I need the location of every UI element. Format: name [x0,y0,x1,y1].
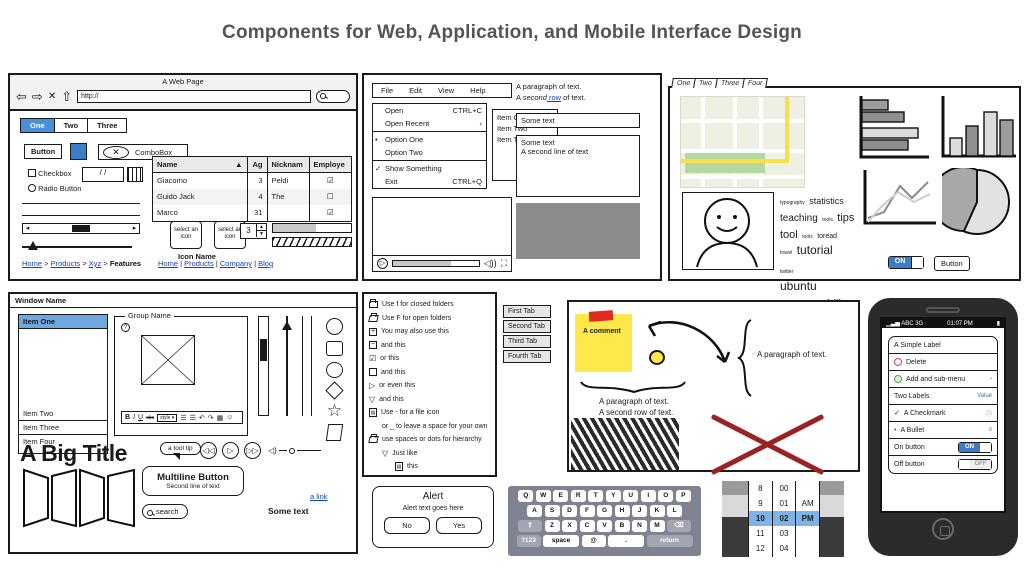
textarea[interactable]: Some text A second line of text [516,135,640,197]
key-s[interactable]: S [545,505,560,517]
divider-one [22,203,140,204]
open-folder-icon [368,436,378,443]
hour-cell[interactable]: 9 [749,496,772,511]
tab-one[interactable]: One [21,119,55,132]
icon-picker-button[interactable]: select an icon [170,221,202,249]
tag-cloud: typography statistics teaching tools tip… [780,192,860,312]
phone-home-button[interactable] [932,518,954,540]
hour-column[interactable]: 89101112 [749,481,773,557]
textarea-line2: A second line of text [521,147,635,156]
key-t[interactable]: T [588,490,603,502]
tree-item[interactable]: ▷or even this [369,379,490,393]
pie-chart [942,168,1012,236]
search-icon [320,93,326,99]
right-brace [737,318,755,398]
key-i[interactable]: I [641,490,656,502]
phone-row-add[interactable]: Add and sub-menu› [889,371,997,388]
radio-icon[interactable] [28,184,36,192]
at-key[interactable]: @ [582,535,606,547]
checkbox-row[interactable]: Checkbox [28,169,71,178]
map-widget[interactable] [680,96,805,188]
window-title: Window Name [10,294,356,308]
annotation-panel: A comment A paragraph of text. A paragra… [567,300,860,472]
previous-icon[interactable]: ◁◁ [200,442,217,459]
bullet-list-icon[interactable]: ☰ [180,414,186,422]
stepper-down-icon[interactable]: ▼ [256,230,266,237]
group-title: Group Name [125,311,174,320]
right-paragraph: A paragraph of text. [757,350,827,359]
key-q[interactable]: Q [518,490,533,502]
alert-message: Alert text goes here [373,505,493,512]
progress-bar [272,223,352,233]
phone-menu-list: A Simple Label Delete Add and sub-menu› … [888,336,998,474]
key-u[interactable]: U [623,490,638,502]
key-g[interactable]: G [597,505,612,517]
key-o[interactable]: O [658,490,673,502]
vtab-third[interactable]: Third Tab [503,335,551,348]
key-c[interactable]: C [580,520,595,532]
carousel-graphic [20,466,140,528]
cell-age: 31 [247,205,267,221]
radio-row[interactable]: Radio Button [28,184,81,193]
player-controls: ▷ ◁)) ⛶ [373,255,511,271]
big-title: A Big Title [20,440,127,467]
breadcrumb-home[interactable]: Home [22,259,42,268]
minute-cell[interactable]: 03 [773,526,796,541]
minute-cell[interactable]: 01 [773,496,796,511]
bottom-paragraph: A paragraph of text. A second row of tex… [599,396,673,418]
minute-cell[interactable]: 04 [773,541,796,556]
curved-arrow [637,312,747,374]
meridiem-cell[interactable]: AM [796,496,819,511]
redo-icon[interactable]: ↷ [208,414,214,422]
tree-item[interactable]: Use f for closed folders [369,298,490,312]
bottom-line1: A paragraph of text. [599,396,673,407]
undo-icon[interactable]: ↶ [199,414,205,422]
dropdown-menu: OpenCTRL+C Open Recent› •Option One Opti… [372,103,487,189]
alert-no-button[interactable]: No [384,517,430,534]
multiline-button[interactable]: Multiline Button Second line of text [142,466,244,496]
meridiem-cell[interactable] [796,481,819,496]
key-a[interactable]: A [527,505,542,517]
cell-employee-checked[interactable]: ☑ [309,173,351,189]
stop-x-icon[interactable]: ✕ [48,91,56,102]
ellipse-shape[interactable] [326,362,343,378]
divider-two [22,215,140,216]
player-seekbar[interactable] [392,260,480,267]
tag[interactable]: travel [780,250,792,256]
breadcrumb: Home > Products > Xyz > Features [22,259,141,268]
toggle-on-label: ON [889,257,911,268]
breadcrumb-products[interactable]: Products [51,259,81,268]
phone-row-simple-label[interactable]: A Simple Label [889,337,997,354]
bottom-line2: A second row of text. [599,407,673,418]
menu-edit[interactable]: Edit [409,86,422,95]
calendar-icon[interactable] [127,167,143,182]
open-folder-icon [368,315,378,322]
volume-slider[interactable]: ◁) [268,446,321,455]
scroll-thumb[interactable] [72,225,90,232]
tag[interactable]: tutorial [797,243,833,257]
vtab-second[interactable]: Second Tab [503,320,551,333]
menu-item-open[interactable]: OpenCTRL+C [373,104,486,117]
tree-item[interactable]: +You may also use this [369,325,490,339]
play-icon[interactable]: ▷ [377,258,388,269]
key-b[interactable]: B [615,520,630,532]
key-p[interactable]: P [676,490,691,502]
forward-arrow-icon[interactable]: ⇨ [32,90,43,103]
diamond-shape[interactable] [325,381,343,399]
data-grid: Name▲ Ag Nicknam Employe Giacomo 3 Peldi… [152,156,352,222]
toggle-switch-on[interactable]: ON [888,256,924,269]
checked-box-icon[interactable]: ☑ [369,352,376,366]
progress-bar-striped [272,237,352,247]
tree-item[interactable]: use spaces or dots for hierarchy [369,433,490,447]
bold-icon[interactable]: B [125,414,130,421]
meridiem-cell[interactable]: PM [796,511,819,526]
date-input[interactable]: / / [82,167,124,182]
scroll-left-arrow[interactable]: ◂ [23,224,32,233]
browser-window-panel: A Web Page ⇦ ⇨ ✕ ⇧ http:// One Two Three… [8,73,358,281]
footer-link-blog[interactable]: Blog [258,259,273,268]
tree-item[interactable]: and this [369,366,490,380]
vertical-bar-chart [938,94,1018,164]
minute-cell[interactable]: 00 [773,481,796,496]
footer-link-home[interactable]: Home [158,259,178,268]
tag[interactable]: tools [822,217,833,223]
key-y[interactable]: Y [606,490,621,502]
image-insert-icon[interactable]: ▦ [217,414,224,422]
vertical-tabs: First Tab Second Tab Third Tab Fourth Ta… [503,305,551,365]
file-icon: ▤ [395,462,403,471]
key-k[interactable]: K [650,505,665,517]
phone-clock: 01:07 PM [947,321,973,327]
image-placeholder-grey [516,203,640,259]
color-swatch[interactable] [70,143,87,160]
tooltip: a tool tip [160,442,201,455]
volume-icon: ◁) [268,446,277,455]
browser-nav-row: ⇦ ⇨ ✕ ⇧ http:// [10,86,356,106]
menu-item-exit[interactable]: ExitCTRL+Q [373,175,486,188]
phone-row-two-labels[interactable]: Two LabelsValue [889,388,997,405]
key-d[interactable]: D [562,505,577,517]
list-item-three[interactable]: Item Three [19,421,107,435]
menu-separator [373,160,486,161]
triangle-down-icon[interactable]: ▽ [369,393,375,407]
vtab-first[interactable]: First Tab [503,305,551,318]
tree-item[interactable]: ▽Just like [369,447,490,461]
col-nickname[interactable]: Nicknam [267,157,309,173]
minus-box-icon[interactable]: − [369,341,377,349]
folder-tabs: One Two Three Four [672,78,767,88]
tree-item[interactable]: Use F for open folders [369,312,490,326]
shapes-column: ☆ [326,318,343,441]
tab-strip: One Two Three [20,118,127,133]
paragraph-line1: A paragraph of text. [516,81,586,92]
app-window-panel: Window Name Item One Item Two Item Three… [8,292,358,554]
tag[interactable]: tips [837,212,854,224]
cell-name: Giacomo [153,173,247,189]
browser-search-box[interactable] [316,90,350,103]
phone-speaker [926,307,960,313]
key-w[interactable]: W [536,490,551,502]
menu-item-open-recent[interactable]: Open Recent› [373,117,486,130]
checkbox-label: Checkbox [38,169,71,178]
key-m[interactable]: M [650,520,665,532]
alert-dialog: Alert Alert text goes here No Yes [372,486,494,548]
key-z[interactable]: Z [545,520,560,532]
video-player: ▷ ◁)) ⛶ [372,197,512,272]
triangle-right-icon[interactable]: ▷ [369,379,375,393]
key-l[interactable]: L [667,505,682,517]
underline-icon[interactable]: U [138,414,143,421]
menu-file[interactable]: File [381,86,393,95]
panel-button[interactable]: Button [934,256,970,271]
numbers-key[interactable]: ?123 [517,535,541,547]
rich-text-toolbar: B I U abc style ▾ ☰ ☰ ↶ ↷ ▦ ☺ [121,411,243,424]
plus-box-icon[interactable]: + [369,328,377,336]
phone-row-bullet[interactable]: •A Bullet≡ [889,422,997,439]
tree-item[interactable]: ▤Use - for a file icon [369,406,490,420]
footer-links: Home | Products | Company | Blog [158,259,273,268]
meridiem-cell[interactable] [796,541,819,556]
cell-nick: Peldi [267,173,309,189]
strike-icon[interactable]: abc [146,415,154,421]
tree-item[interactable]: ☑or this [369,352,490,366]
phone-row-checkmark[interactable]: ✓A Checkmarkⓘ [889,405,997,422]
media-controls: ◁◁ ▷ ▷▷ [200,442,261,459]
empty-box-icon[interactable] [369,368,377,376]
help-icon[interactable]: ? [121,323,130,332]
parallelogram-shape[interactable] [326,424,343,441]
inline-link[interactable]: row [547,93,561,102]
vscroll-thumb[interactable] [260,339,267,361]
menu-separator [373,131,486,132]
minute-cell[interactable]: 02 [773,511,796,526]
inline-link[interactable]: a link [310,492,328,501]
triangle-down-icon[interactable]: ▽ [382,447,388,461]
meridiem-cell[interactable] [796,526,819,541]
page-title: Components for Web, Application, and Mob… [0,22,1024,44]
circle-shape[interactable] [326,318,343,335]
col-age[interactable]: Ag [247,157,267,173]
dot-key[interactable]: . [608,535,644,547]
bottom-brace [579,380,689,396]
url-input[interactable]: http:// [77,90,311,103]
key-r[interactable]: R [571,490,586,502]
phone-status-bar: ▁▃▅ ABC 3G 01:07 PM ▮ [882,319,1004,328]
folder-tab-three[interactable]: Three [715,78,745,88]
list-item-two[interactable]: Item Two [19,407,107,421]
scribble-marker [571,418,679,470]
list-item-one[interactable]: Item One [19,315,107,329]
minute-column[interactable]: 0001020304 [773,481,797,557]
slider-track [22,246,132,248]
vertical-scrollbar[interactable] [258,316,269,416]
line-chart [860,168,938,230]
col-name[interactable]: Name▲ [153,157,247,173]
footer-link-company[interactable]: Company [220,259,252,268]
multiline-button-line2: Second line of text [153,483,233,490]
vtab-fourth[interactable]: Fourth Tab [503,350,551,363]
horizontal-bar-chart [855,94,933,164]
menu-view[interactable]: View [438,86,454,95]
hour-cell[interactable]: 12 [749,541,772,556]
keyboard-row-2: ASDFGHJKL [511,505,698,517]
key-h[interactable]: H [615,505,630,517]
add-icon [894,375,902,383]
table-row[interactable]: Marco 31 ☑ [153,205,351,221]
backspace-key[interactable]: ⌫ [667,520,691,532]
sticky-note[interactable]: A comment [575,314,632,372]
paragraph-block: A paragraph of text. A second row of tex… [516,81,586,103]
generic-button[interactable]: Button [24,144,62,159]
cell-nick: The [267,189,309,205]
scroll-right-arrow[interactable]: ▸ [130,224,139,233]
phone-row-off-button[interactable]: Off button OFF [889,456,997,473]
alert-buttons: No Yes [373,517,493,534]
file-icon: ▤ [369,408,377,417]
fullscreen-icon[interactable]: ⛶ [501,258,507,269]
italic-icon[interactable]: I [133,414,135,421]
checkbox-icon[interactable] [28,169,36,177]
tag[interactable]: twitter [780,269,793,275]
number-stepper[interactable]: 3 ▲ ▼ [240,223,267,239]
slider-knob[interactable] [28,241,38,250]
closed-folder-icon [369,301,378,308]
back-arrow-icon[interactable]: ⇦ [16,90,27,103]
avatar [682,192,774,270]
cell-employee-unchecked[interactable]: ☐ [309,189,351,205]
numbered-list-icon[interactable]: ☰ [190,414,196,422]
shift-key[interactable]: ⇧ [518,520,542,532]
tag[interactable]: toread [817,233,837,240]
table-row[interactable]: Guido Jack 4 The ☐ [153,189,351,205]
toggle-on[interactable]: ON [958,442,992,453]
hour-cell[interactable]: 10 [749,511,772,526]
menu-item-option-one[interactable]: •Option One [373,133,486,146]
tab-two[interactable]: Two [55,119,88,132]
browser-content: One Two Three Button ✕ ComboBox Checkbox… [10,111,356,281]
signal-icon: ▁▃▅ ABC 3G [886,320,923,327]
key-n[interactable]: N [632,520,647,532]
slider[interactable] [22,241,132,251]
cell-name: Marco [153,205,247,221]
col-employee[interactable]: Employe [309,157,351,173]
browser-chrome: A Web Page ⇦ ⇨ ✕ ⇧ http:// [10,75,356,111]
emoji-icon[interactable]: ☺ [226,414,233,421]
info-icon[interactable]: ⓘ [986,409,992,418]
cell-employee-checked[interactable]: ☑ [309,205,351,221]
footer-link-products[interactable]: Products [184,259,214,268]
cell-age: 4 [247,189,267,205]
folder-tab-four[interactable]: Four [742,78,768,88]
multiline-button-line1: Multiline Button [153,472,233,483]
textarea-line1: Some text [521,138,635,147]
rounded-square-shape[interactable] [326,341,343,356]
tree-item[interactable]: ▤this [369,460,490,474]
key-j[interactable]: J [632,505,647,517]
breadcrumb-features: Features [110,259,141,268]
volume-icon[interactable]: ◁)) [484,258,497,269]
tag[interactable]: tool [780,229,798,241]
key-v[interactable]: V [597,520,612,532]
hour-cell[interactable]: 8 [749,481,772,496]
tree-item[interactable]: or _ to leave a space for your own [369,420,490,434]
search-icon [147,510,153,516]
vertical-track[interactable] [302,316,312,416]
browser-window-title: A Web Page [10,75,356,86]
toggle-off[interactable]: OFF [958,459,992,470]
tag[interactable]: ubuntu [780,279,817,293]
space-key[interactable]: space [543,535,579,547]
delete-icon [894,358,902,366]
tree-list-panel: Use f for closed folders Use F for open … [362,292,497,477]
return-key[interactable]: return [647,535,693,547]
phone-row-delete[interactable]: Delete [889,354,997,371]
menu-item-show-something[interactable]: ✓Show Something [373,162,486,175]
toggle-knob[interactable] [911,257,923,268]
horizontal-scrollbar[interactable]: ◂ ▸ [22,223,140,234]
tag[interactable]: statistics [809,196,844,206]
alert-title: Alert [373,491,493,502]
key-e[interactable]: E [553,490,568,502]
reorder-icon[interactable]: ≡ [988,427,992,433]
tree-item[interactable]: ▽and this [369,393,490,407]
menu-help[interactable]: Help [470,86,485,95]
combo-x-icon: ✕ [103,146,129,159]
text-input[interactable]: Some text [516,113,640,128]
side-list: Item One Item Two Item Three Item Four [18,314,108,454]
tag[interactable]: tools [802,234,813,240]
home-arrow-icon[interactable]: ⇧ [61,90,72,103]
keyboard-row-3: ⇧ ZXCVBNM ⌫ [511,520,698,532]
tag[interactable]: teaching [780,213,818,224]
radio-label: Radio Button [38,184,81,193]
breadcrumb-xyz[interactable]: Xyz [89,259,102,268]
some-text-label: Some text [268,506,309,516]
tag[interactable]: typography [780,200,805,206]
play-icon[interactable]: ▷ [222,442,239,459]
chevron-right-icon: › [990,376,992,382]
battery-icon: ▮ [997,320,1000,327]
next-icon[interactable]: ▷▷ [244,442,261,459]
key-f[interactable]: F [580,505,595,517]
star-shape[interactable]: ☆ [327,403,342,418]
dashboard-panel: typography statistics teaching tools tip… [668,86,1021,281]
person-icon [683,193,771,267]
menu-item-option-two[interactable]: Option Two [373,146,486,159]
hour-cell[interactable]: 11 [749,526,772,541]
phone-row-on-button[interactable]: On button ON [889,439,997,456]
search-field[interactable]: search [142,504,188,519]
vertical-slider[interactable] [282,316,292,416]
alert-yes-button[interactable]: Yes [436,517,482,534]
tree-item[interactable]: −and this [369,339,490,353]
style-select[interactable]: style ▾ [157,414,177,422]
meridiem-column[interactable]: AMPM [796,481,819,557]
keyboard-row-4: ?123 space @ . return [511,535,698,547]
bullet-icon: • [894,427,896,434]
tab-three[interactable]: Three [88,119,126,132]
table-row[interactable]: Giacomo 3 Peldi ☑ [153,173,351,189]
keyboard-row-1: QWERTYUIOP [511,490,698,502]
menu-bar: File Edit View Help [372,83,512,98]
group-box: Group Name ? B I U abc style ▾ ☰ ☰ ↶ ↷ ▦… [114,316,248,436]
mobile-phone-frame: ▁▃▅ ABC 3G 01:07 PM ▮ A Simple Label Del… [868,298,1018,556]
key-x[interactable]: X [562,520,577,532]
stepper-value: 3 [241,224,256,238]
